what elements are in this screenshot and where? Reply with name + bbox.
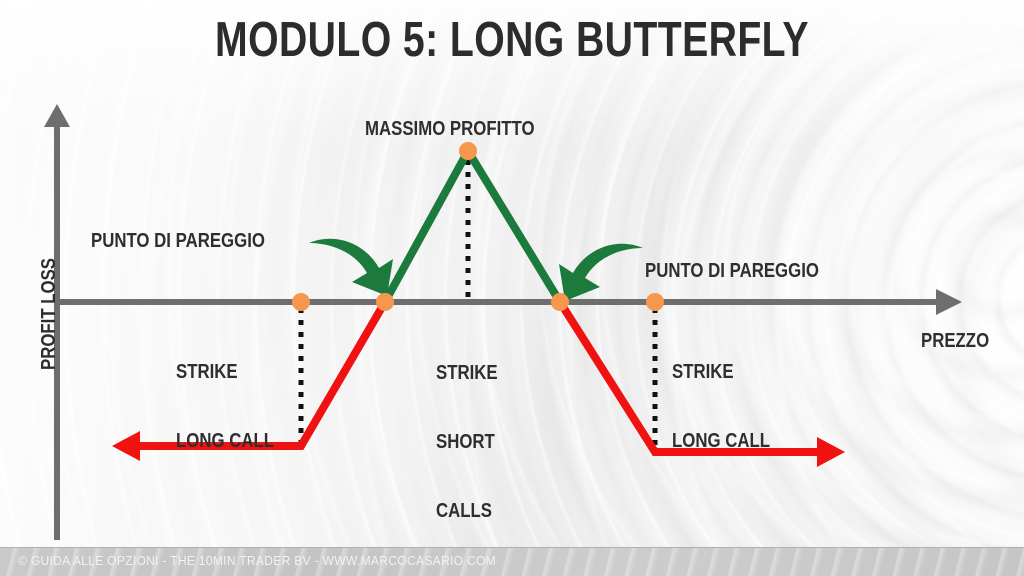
label-strike-long-call-right-line1: STRIKE xyxy=(672,361,770,384)
profit-line xyxy=(385,151,560,302)
label-strike-long-call-right: STRIKE LONG CALL xyxy=(672,315,770,499)
callout-arrow-right-icon xyxy=(559,244,643,301)
label-strike-short-calls: STRIKE SHORT CALLS xyxy=(436,316,498,569)
label-strike-long-call-left-line2: LONG CALL xyxy=(176,430,274,453)
loss-line-left-arrowhead xyxy=(112,431,140,461)
loss-line-right-arrowhead xyxy=(817,437,845,467)
footer-bar: © GUIDA ALLE OPZIONI - THE 10MIN TRADER … xyxy=(0,547,1024,576)
payoff-diagram xyxy=(0,0,1024,576)
marker-strike-long-call-left xyxy=(292,293,310,311)
marker-max-profit xyxy=(459,142,477,160)
label-strike-short-calls-line3: CALLS xyxy=(436,500,498,523)
x-axis-arrowhead xyxy=(936,289,962,315)
label-massimo-profitto: MASSIMO PROFITTO xyxy=(365,118,535,141)
x-axis xyxy=(57,289,962,315)
label-strike-long-call-right-line2: LONG CALL xyxy=(672,430,770,453)
marker-breakeven-left xyxy=(376,293,394,311)
callout-arrow-left-icon xyxy=(309,239,393,296)
footer-credit: © GUIDA ALLE OPZIONI - THE 10MIN TRADER … xyxy=(18,553,496,568)
slide-canvas: MODULO 5: LONG BUTTERFLY xyxy=(0,0,1024,576)
label-strike-short-calls-line1: STRIKE xyxy=(436,362,498,385)
label-punto-di-pareggio-right: PUNTO DI PAREGGIO xyxy=(645,260,819,283)
label-strike-short-calls-line2: SHORT xyxy=(436,431,498,454)
label-strike-long-call-left: STRIKE LONG CALL xyxy=(176,315,274,499)
x-axis-label: PREZZO xyxy=(921,330,989,353)
marker-strike-long-call-right xyxy=(646,293,664,311)
label-strike-long-call-left-line1: STRIKE xyxy=(176,361,274,384)
y-axis-label: PROFIT LOSS xyxy=(38,258,61,370)
y-axis-arrowhead xyxy=(44,104,70,127)
label-punto-di-pareggio-left: PUNTO DI PAREGGIO xyxy=(91,230,265,253)
marker-breakeven-right xyxy=(551,293,569,311)
